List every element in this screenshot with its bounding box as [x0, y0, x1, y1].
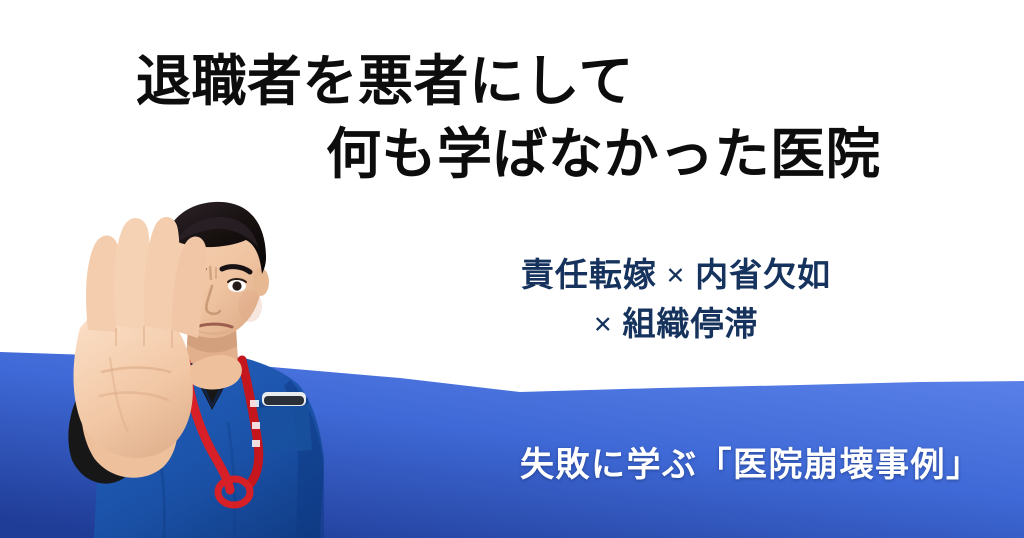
banner-root: 退職者を悪者にして 何も学ばなかった医院 責任転嫁 × 内省欠如 × 組織停滞 …: [0, 0, 1024, 538]
medical-worker-figure: [58, 160, 368, 538]
